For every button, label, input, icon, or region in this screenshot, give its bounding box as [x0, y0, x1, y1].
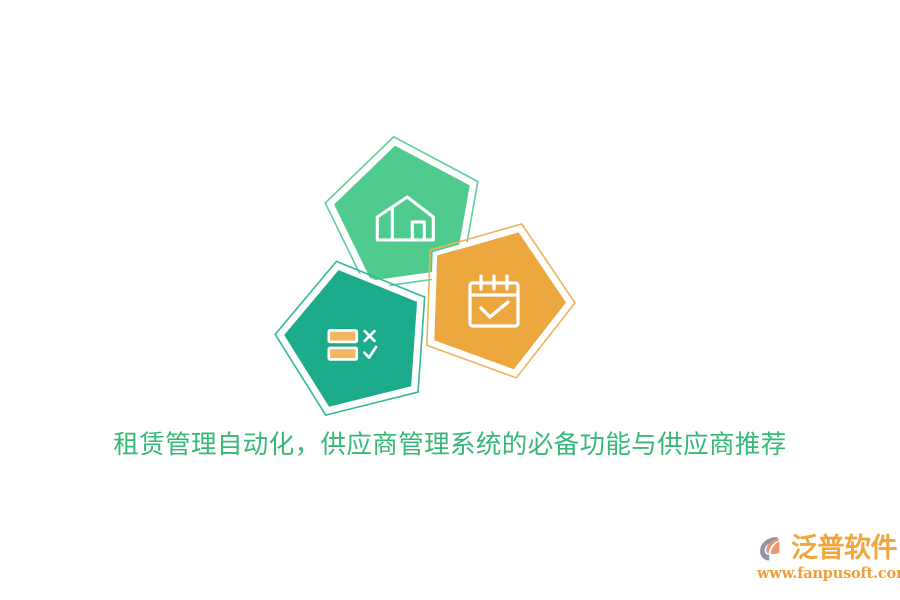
pentagon-calendar-body [410, 209, 583, 378]
watermark-logo-row: 泛普软件 [756, 528, 897, 568]
brand-name: 泛普软件 [791, 535, 897, 562]
pentagon-calendar-gap [406, 205, 586, 381]
pentagon-checklist-gap [269, 250, 440, 416]
pentagon-warehouse-gap [324, 133, 484, 287]
pentagon-warehouse-body [327, 136, 481, 284]
pentagon-checklist-outline [262, 243, 447, 422]
approve-check-icon [364, 347, 376, 358]
watermark: 泛普软件 www.fanpusoft.com [756, 528, 888, 588]
calendar-check-icon [470, 276, 518, 326]
poster-canvas: 租赁管理自动化，供应商管理系统的必备功能与供应商推荐 泛普软件 www.fanp… [0, 0, 900, 600]
brand-url: www.fanpusoft.com [757, 565, 900, 582]
page-title: 租赁管理自动化，供应商管理系统的必备功能与供应商推荐 [0, 428, 900, 462]
checklist-row-2-bar [329, 348, 357, 360]
fanpu-swoosh-logo-icon [756, 532, 789, 565]
warehouse-house-icon [377, 197, 433, 240]
pentagon-checklist [262, 243, 447, 422]
pentagon-calendar-outline [399, 198, 594, 388]
pentagon-warehouse-outline [317, 126, 490, 293]
pentagon-icon-cluster [0, 0, 900, 600]
checklist-row-1-bar [329, 330, 357, 342]
pentagon-checklist-body [272, 254, 436, 414]
reject-x-icon [365, 331, 375, 341]
pentagon-warehouse [317, 126, 490, 293]
pentagon-calendar [399, 198, 594, 388]
checklist-approve-reject-icon [329, 330, 376, 359]
